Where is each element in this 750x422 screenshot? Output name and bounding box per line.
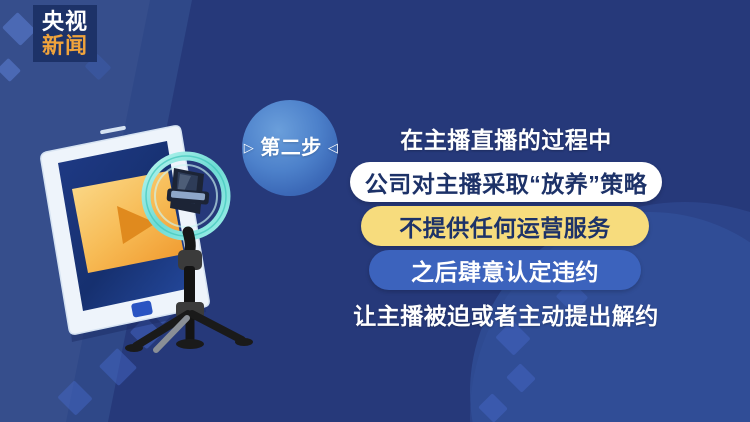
step-label: ▷ 第二步 ◁ — [236, 131, 346, 160]
triangle-left-icon: ▷ — [244, 140, 255, 155]
step-label-text: 第二步 — [260, 137, 322, 159]
content-line-1: 在主播直播的过程中 — [350, 118, 662, 158]
content-lines: 在主播直播的过程中 公司对主播采取“放养”策略 不提供任何运营服务 之后肆意认定… — [350, 118, 662, 338]
content-line-4: 之后肆意认定违约 — [369, 250, 641, 290]
illustration-tablet-ring-light — [28, 104, 258, 354]
infographic-canvas: 央视 新闻 — [0, 0, 750, 422]
content-line-3: 不提供任何运营服务 — [361, 206, 649, 246]
logo-text-bottom: 新闻 — [42, 35, 88, 57]
content-line-2: 公司对主播采取“放养”策略 — [350, 162, 662, 202]
cctv-news-logo: 央视 新闻 — [33, 5, 97, 62]
tablet-speaker — [100, 126, 126, 135]
triangle-right-icon: ◁ — [328, 140, 339, 155]
content-line-5: 让主播被迫或者主动提出解约 — [341, 294, 671, 334]
logo-text-top: 央视 — [42, 11, 88, 33]
